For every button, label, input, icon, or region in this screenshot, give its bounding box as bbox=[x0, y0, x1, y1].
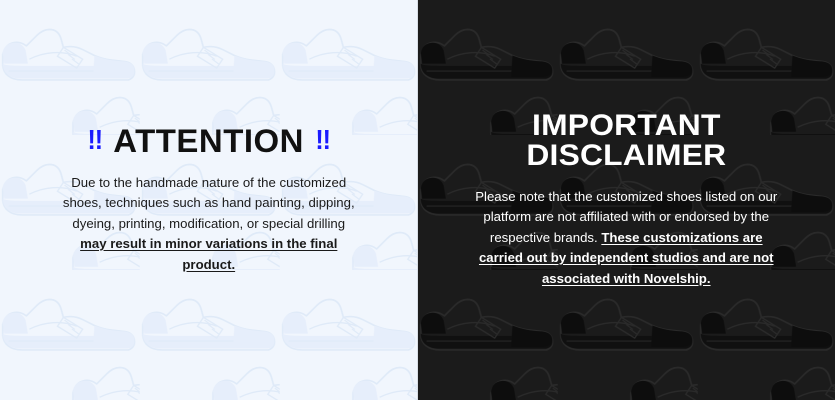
disclaimer-banner: !! ATTENTION !! Due to the handmade natu… bbox=[0, 0, 835, 400]
panel-divider bbox=[417, 0, 418, 400]
attention-heading: !! ATTENTION !! bbox=[87, 125, 330, 157]
disclaimer-panel: IMPORTANT DISCLAIMER Please note that th… bbox=[418, 0, 835, 400]
double-exclamation-icon-left: !! bbox=[87, 127, 102, 155]
attention-body-emphasis: may result in minor variations in the fi… bbox=[80, 236, 337, 271]
attention-body: Due to the handmade nature of the custom… bbox=[59, 173, 359, 275]
disclaimer-body: Please note that the customized shoes li… bbox=[470, 187, 782, 289]
disclaimer-heading: IMPORTANT DISCLAIMER bbox=[526, 111, 726, 171]
disclaimer-heading-line-1: IMPORTANT bbox=[526, 111, 726, 141]
disclaimer-heading-line-2: DISCLAIMER bbox=[526, 141, 726, 171]
disclaimer-content: IMPORTANT DISCLAIMER Please note that th… bbox=[418, 0, 835, 400]
attention-content: !! ATTENTION !! Due to the handmade natu… bbox=[0, 0, 418, 400]
double-exclamation-icon-right: !! bbox=[315, 127, 330, 155]
attention-body-normal: Due to the handmade nature of the custom… bbox=[63, 175, 355, 231]
attention-panel: !! ATTENTION !! Due to the handmade natu… bbox=[0, 0, 418, 400]
attention-heading-word: ATTENTION bbox=[113, 125, 304, 157]
